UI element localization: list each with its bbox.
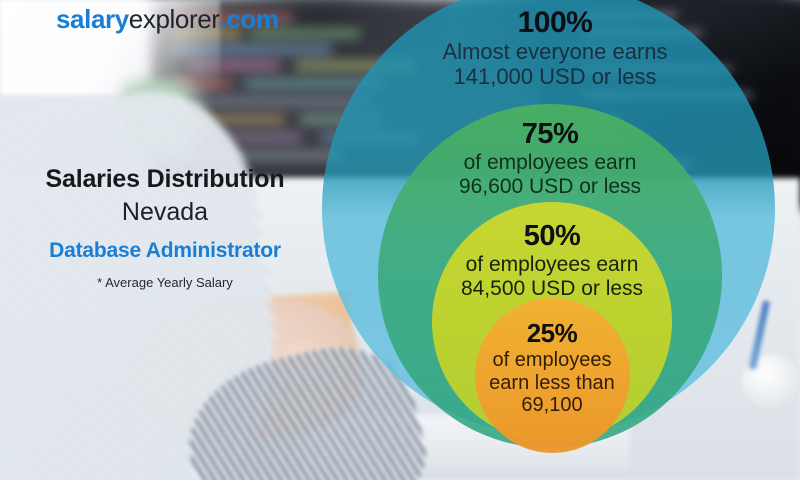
percentile-value-50: 50% — [402, 220, 702, 253]
percentile-value-100: 100% — [405, 6, 705, 40]
percentile-label-50: 50% of employees earn 84,500 USD or less — [402, 220, 702, 300]
percentile-desc-100-line1: Almost everyone earns — [405, 40, 705, 65]
site-logo[interactable]: salaryexplorer.com — [56, 4, 279, 35]
percentile-label-100: 100% Almost everyone earns 141,000 USD o… — [405, 6, 705, 90]
title-block: Salaries Distribution Nevada Database Ad… — [0, 165, 330, 290]
percentile-desc-50-line1: of employees earn — [402, 253, 702, 277]
percentile-desc-25-line2: earn less than — [402, 372, 702, 395]
percentile-value-75: 75% — [400, 118, 700, 151]
percentile-desc-25-line1: of employees — [402, 349, 702, 372]
logo-part-explorer: explorer — [129, 4, 220, 34]
footnote: * Average Yearly Salary — [0, 275, 330, 290]
percentile-desc-75-line1: of employees earn — [400, 151, 700, 175]
percentile-value-25: 25% — [402, 318, 702, 349]
percentile-desc-75-line2: 96,600 USD or less — [400, 175, 700, 199]
job-title-label: Database Administrator — [0, 236, 330, 265]
logo-part-salary: salary — [56, 4, 129, 34]
percentile-label-25: 25% of employees earn less than 69,100 — [402, 318, 702, 417]
region-label: Nevada — [0, 196, 330, 230]
infographic-canvas: salaryexplorer.com Salaries Distribution… — [0, 0, 800, 480]
logo-part-tld: .com — [220, 4, 279, 34]
percentile-desc-50-line2: 84,500 USD or less — [402, 277, 702, 301]
percentile-label-75: 75% of employees earn 96,600 USD or less — [400, 118, 700, 198]
page-title: Salaries Distribution — [0, 165, 330, 194]
percentile-desc-100-line2: 141,000 USD or less — [405, 65, 705, 90]
percentile-desc-25-line3: 69,100 — [402, 394, 702, 417]
